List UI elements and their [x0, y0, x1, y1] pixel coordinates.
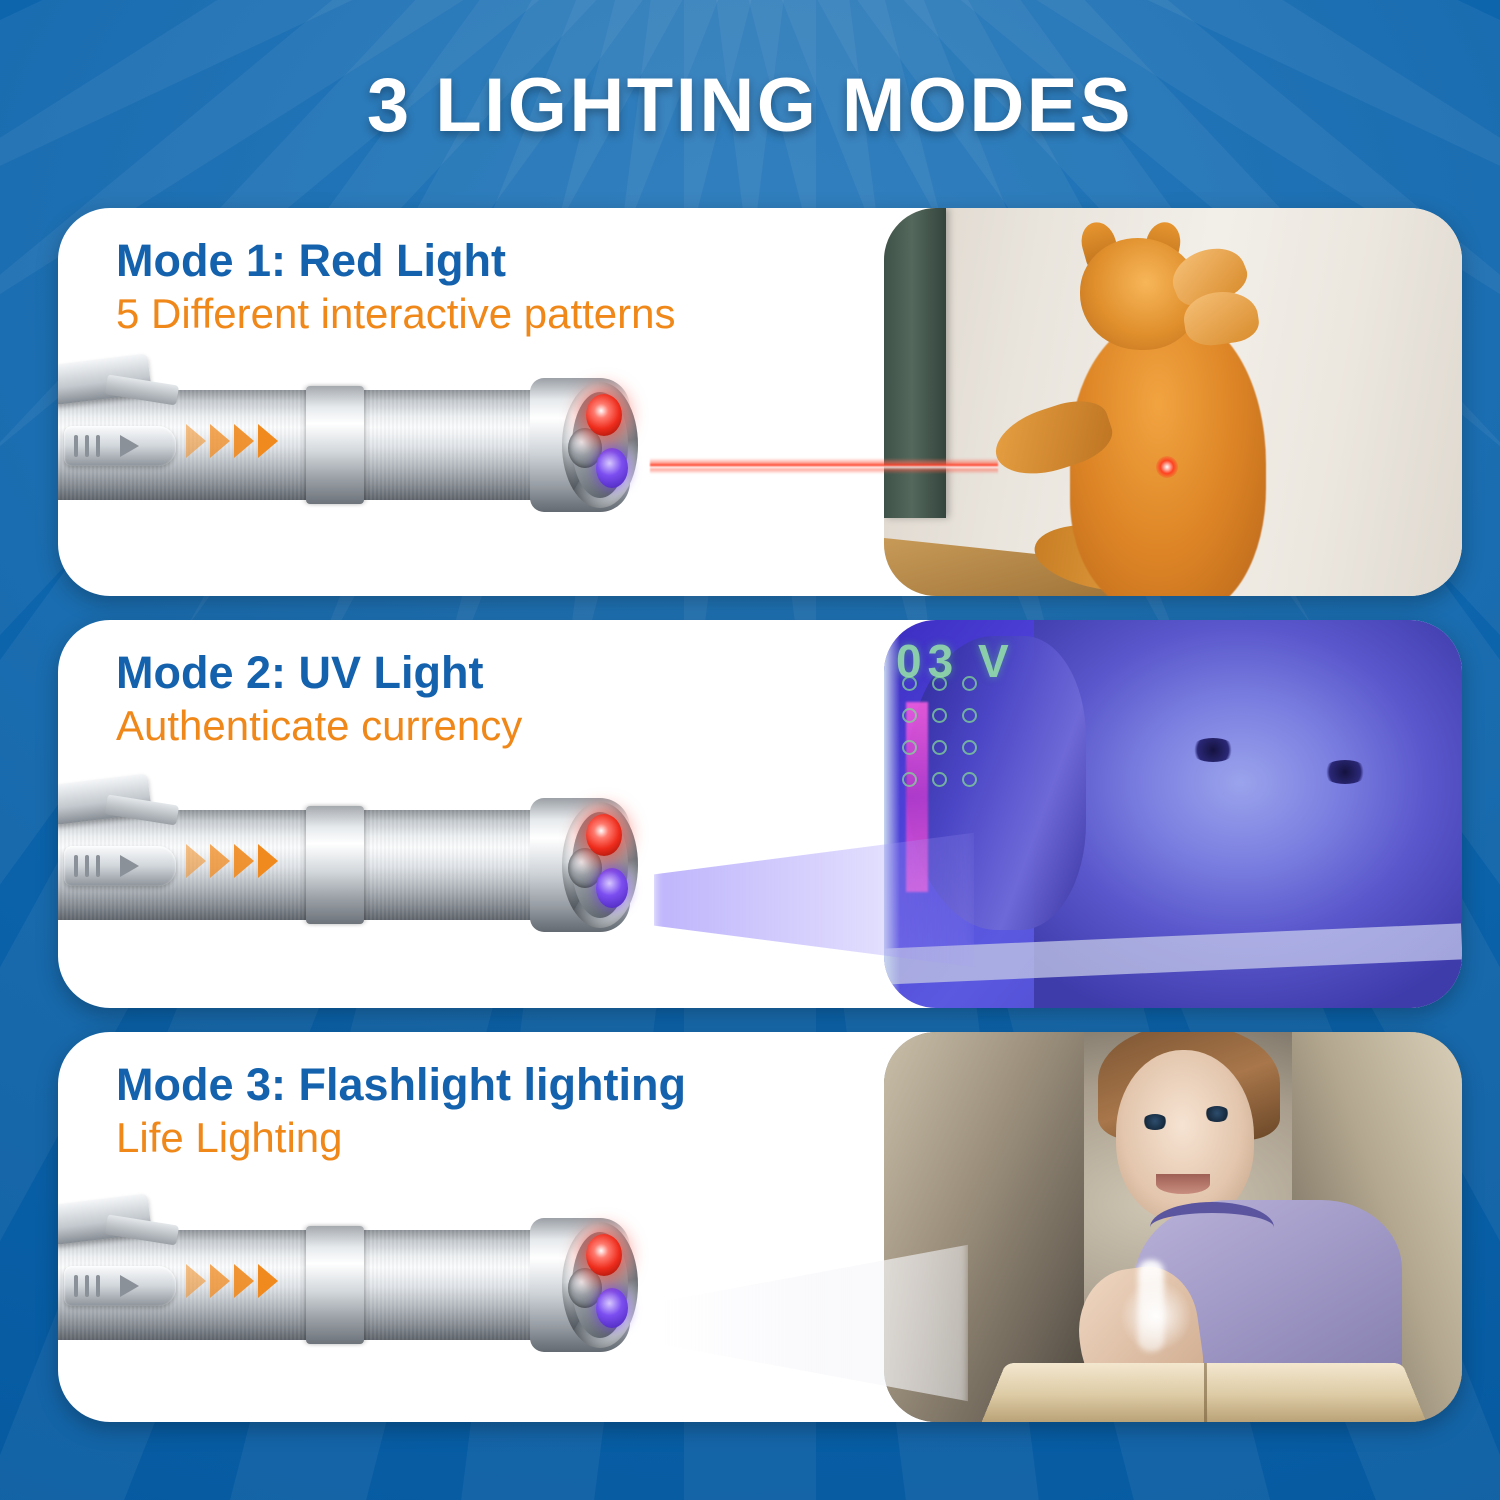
white-flashlight-beam: [656, 1238, 968, 1408]
chevron-right-icon: [234, 844, 254, 878]
chevron-right-icon: [210, 844, 230, 878]
chevron-right-icon: [234, 1264, 254, 1298]
chevron-right-icon: [186, 424, 206, 458]
red-laser-lens: [586, 1234, 622, 1276]
girl-eye-right: [1204, 1106, 1230, 1122]
franklin-eye-left: [1190, 738, 1236, 762]
uv-microprint-dot: [962, 740, 977, 755]
page-title: 3 LIGHTING MODES: [0, 62, 1500, 149]
flashlight-ring: [306, 386, 364, 504]
chevron-right-icon: [210, 1264, 230, 1298]
cat-scene: [884, 208, 1462, 596]
chevron-right-icon: [210, 424, 230, 458]
play-triangle-icon: [120, 435, 139, 457]
uv-lens: [596, 448, 628, 488]
mode-1-title: Mode 1: Red Light: [116, 234, 676, 287]
play-triangle-icon: [120, 1275, 139, 1297]
flashlight-illustration-3: [58, 1206, 670, 1362]
slide-direction-arrows: [186, 424, 278, 458]
girl-reading-scene: [884, 1032, 1462, 1422]
girl-mouth: [1156, 1174, 1210, 1194]
chevron-right-icon: [258, 1264, 278, 1298]
girl-eye-left: [1142, 1114, 1168, 1130]
slide-switch[interactable]: [64, 1266, 176, 1306]
open-book: [981, 1363, 1428, 1422]
mode-2-title: Mode 2: UV Light: [116, 646, 522, 699]
red-laser-beam: [650, 458, 998, 474]
slide-direction-arrows: [186, 844, 278, 878]
chevron-right-icon: [186, 1264, 206, 1298]
banknote-serial-text: 03 V: [896, 634, 1015, 688]
red-laser-lens: [586, 394, 622, 436]
mode-3-title: Mode 3: Flashlight lighting: [116, 1058, 686, 1111]
uv-microprint-dot: [962, 708, 977, 723]
flashlight-ring: [306, 806, 364, 924]
uv-microprint-dot: [902, 772, 917, 787]
flashlight-glow: [1120, 1280, 1192, 1352]
mode-card-3: Mode 3: Flashlight lighting Life Lightin…: [58, 1032, 1462, 1422]
franklin-eye-right: [1322, 760, 1368, 784]
mode-card-1: Mode 1: Red Light 5 Different interactiv…: [58, 208, 1462, 596]
mode-2-text-block: Mode 2: UV Light Authenticate currency: [116, 646, 522, 751]
uv-light-beam: [654, 820, 974, 980]
play-triangle-icon: [120, 855, 139, 877]
uv-microprint-dot: [932, 772, 947, 787]
red-laser-lens: [586, 814, 622, 856]
flashlight-illustration-2: [58, 786, 670, 942]
uv-microprint-dot: [962, 772, 977, 787]
chevron-right-icon: [258, 844, 278, 878]
slide-direction-arrows: [186, 1264, 278, 1298]
uv-microprint-dot: [932, 740, 947, 755]
chevron-right-icon: [258, 424, 278, 458]
uv-lens: [596, 1288, 628, 1328]
uv-microprint-dot: [902, 708, 917, 723]
girl-shirt-collar: [1150, 1202, 1274, 1253]
bars-icon: [74, 1275, 100, 1297]
mode-3-text-block: Mode 3: Flashlight lighting Life Lightin…: [116, 1058, 686, 1163]
uv-microprint-dot: [932, 708, 947, 723]
red-laser-dot: [1156, 456, 1178, 478]
uv-microprint-dot: [902, 740, 917, 755]
bars-icon: [74, 855, 100, 877]
slide-switch[interactable]: [64, 426, 176, 466]
mode-3-photo: [884, 1032, 1462, 1422]
girl-head: [1116, 1050, 1254, 1222]
chevron-right-icon: [234, 424, 254, 458]
mode-1-photo: [884, 208, 1462, 596]
cat-body: [1070, 314, 1266, 596]
bars-icon: [74, 435, 100, 457]
mode-card-2: Mode 2: UV Light Authenticate currency: [58, 620, 1462, 1008]
uv-lens: [596, 868, 628, 908]
slide-switch[interactable]: [64, 846, 176, 886]
chevron-right-icon: [186, 844, 206, 878]
mode-1-text-block: Mode 1: Red Light 5 Different interactiv…: [116, 234, 676, 339]
mode-3-subtitle: Life Lighting: [116, 1113, 686, 1163]
flashlight-ring: [306, 1226, 364, 1344]
uv-microprint-dots: [902, 676, 1012, 802]
mode-2-subtitle: Authenticate currency: [116, 701, 522, 751]
flashlight-illustration-1: [58, 366, 670, 522]
mode-1-subtitle: 5 Different interactive patterns: [116, 289, 676, 339]
infographic-root: 3 LIGHTING MODES Mode 1: Red Light 5 Dif…: [0, 0, 1500, 1500]
